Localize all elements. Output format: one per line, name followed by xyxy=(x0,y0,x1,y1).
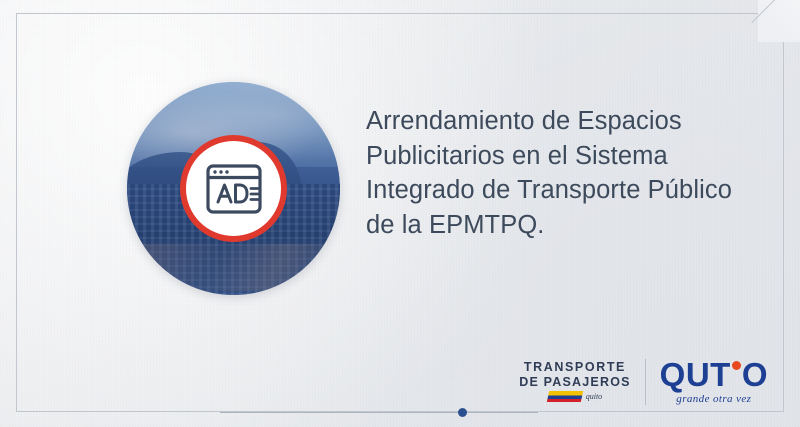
ad-browser-icon xyxy=(206,164,262,214)
ecuador-flag-icon xyxy=(547,391,583,402)
bottom-decorative-dot xyxy=(458,408,467,417)
corner-cut-decoration xyxy=(758,0,800,42)
orange-dot-icon xyxy=(732,361,741,370)
quito-logo: QU T O grande otra vez xyxy=(660,358,768,405)
red-ring-icon-container xyxy=(180,135,287,242)
logo-divider xyxy=(645,359,646,405)
transporte-de-pasajeros-logo: TRANSPORTE DE PASAJEROS quito xyxy=(519,361,630,402)
quito-logo-word: QU T O xyxy=(660,358,768,391)
footer-logos: TRANSPORTE DE PASAJEROS quito QU T O gra… xyxy=(519,358,768,405)
corner-diagonal-line xyxy=(751,0,784,23)
transporte-logo-line1: TRANSPORTE xyxy=(524,361,626,374)
transporte-logo-flag-row: quito xyxy=(548,391,602,402)
transporte-logo-slogan: quito xyxy=(586,393,602,401)
quito-logo-part2: T xyxy=(710,358,731,391)
bottom-decorative-line xyxy=(220,412,538,413)
transporte-logo-line2: DE PASAJEROS xyxy=(519,376,630,389)
slide-canvas: Arrendamiento de Espacios Publicitarios … xyxy=(0,0,800,427)
quito-logo-part1: QU xyxy=(660,358,711,391)
quito-logo-tagline: grande otra vez xyxy=(676,394,751,405)
quito-logo-part3: O xyxy=(742,358,768,391)
slide-headline: Arrendamiento de Espacios Publicitarios … xyxy=(366,104,746,243)
